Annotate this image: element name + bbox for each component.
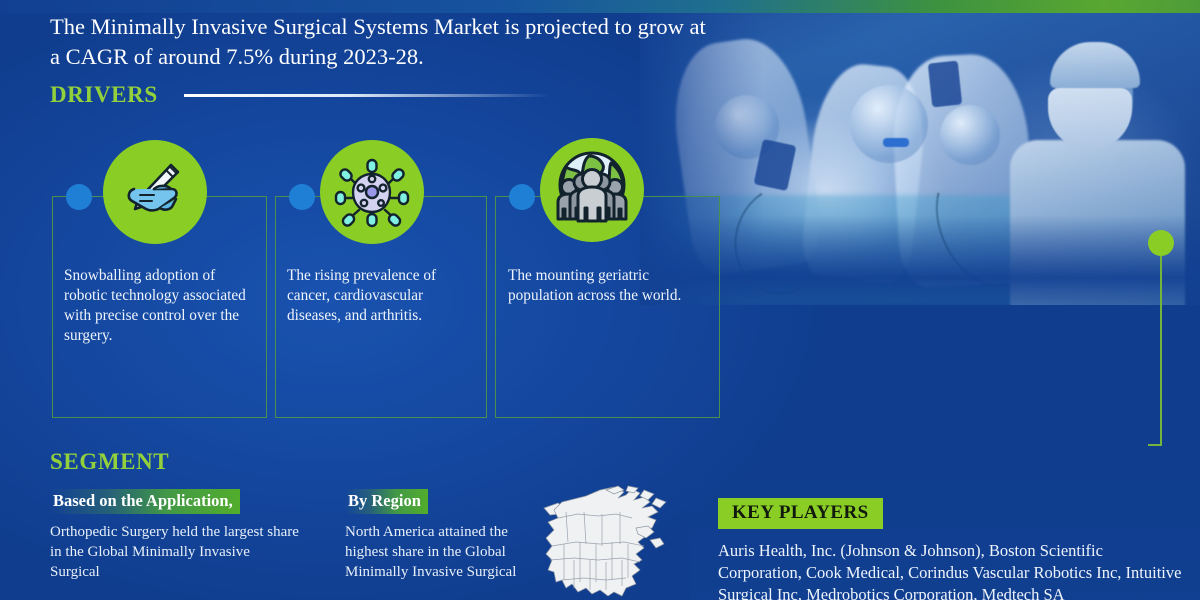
driver-text-3: The mounting geriatric population across… [508, 266, 708, 306]
key-players-list: Auris Health, Inc. (Johnson & Johnson), … [718, 540, 1188, 600]
key-players-section: KEY PLAYERS Auris Health, Inc. (Johnson … [718, 498, 1188, 600]
segment-column-application: Based on the Application, Orthopedic Sur… [50, 489, 300, 583]
drivers-rule [184, 94, 550, 97]
segment-body-region: North America attained the highest share… [345, 523, 550, 583]
virus-cell-icon [320, 140, 424, 244]
segment-body-application: Orthopedic Surgery held the largest shar… [50, 523, 300, 583]
infographic-canvas: The Minimally Invasive Surgical Systems … [0, 0, 1200, 600]
surgery-photo [640, 10, 1200, 305]
segment-title-application: Based on the Application, [53, 491, 233, 510]
green-pointer-stem [1160, 256, 1162, 446]
drivers-label: DRIVERS [50, 82, 158, 108]
drivers-heading: DRIVERS [50, 82, 550, 108]
segment-column-region: By Region North America attained the hig… [345, 489, 550, 583]
photo-bottom-fade [640, 215, 1200, 305]
segment-title-badge-application: Based on the Application, [50, 489, 240, 514]
green-dot-icon [1148, 230, 1174, 256]
driver-dot-1 [66, 184, 92, 210]
globe-population-icon [540, 138, 644, 242]
hand-scalpel-icon [103, 140, 207, 244]
north-america-map-icon [528, 484, 708, 600]
segment-title-badge-region: By Region [345, 489, 428, 514]
segment-title-region: By Region [348, 491, 421, 510]
top-accent-strip [0, 0, 1200, 13]
driver-dot-2 [289, 184, 315, 210]
green-pointer-foot [1148, 444, 1162, 446]
page-title: The Minimally Invasive Surgical Systems … [50, 12, 710, 72]
segment-heading: SEGMENT [50, 449, 169, 475]
driver-text-2: The rising prevalence of cancer, cardiov… [287, 266, 477, 326]
key-players-badge: KEY PLAYERS [718, 498, 883, 529]
driver-dot-3 [509, 184, 535, 210]
driver-text-1: Snowballing adoption of robotic technolo… [64, 266, 260, 346]
key-players-label: KEY PLAYERS [732, 502, 869, 523]
